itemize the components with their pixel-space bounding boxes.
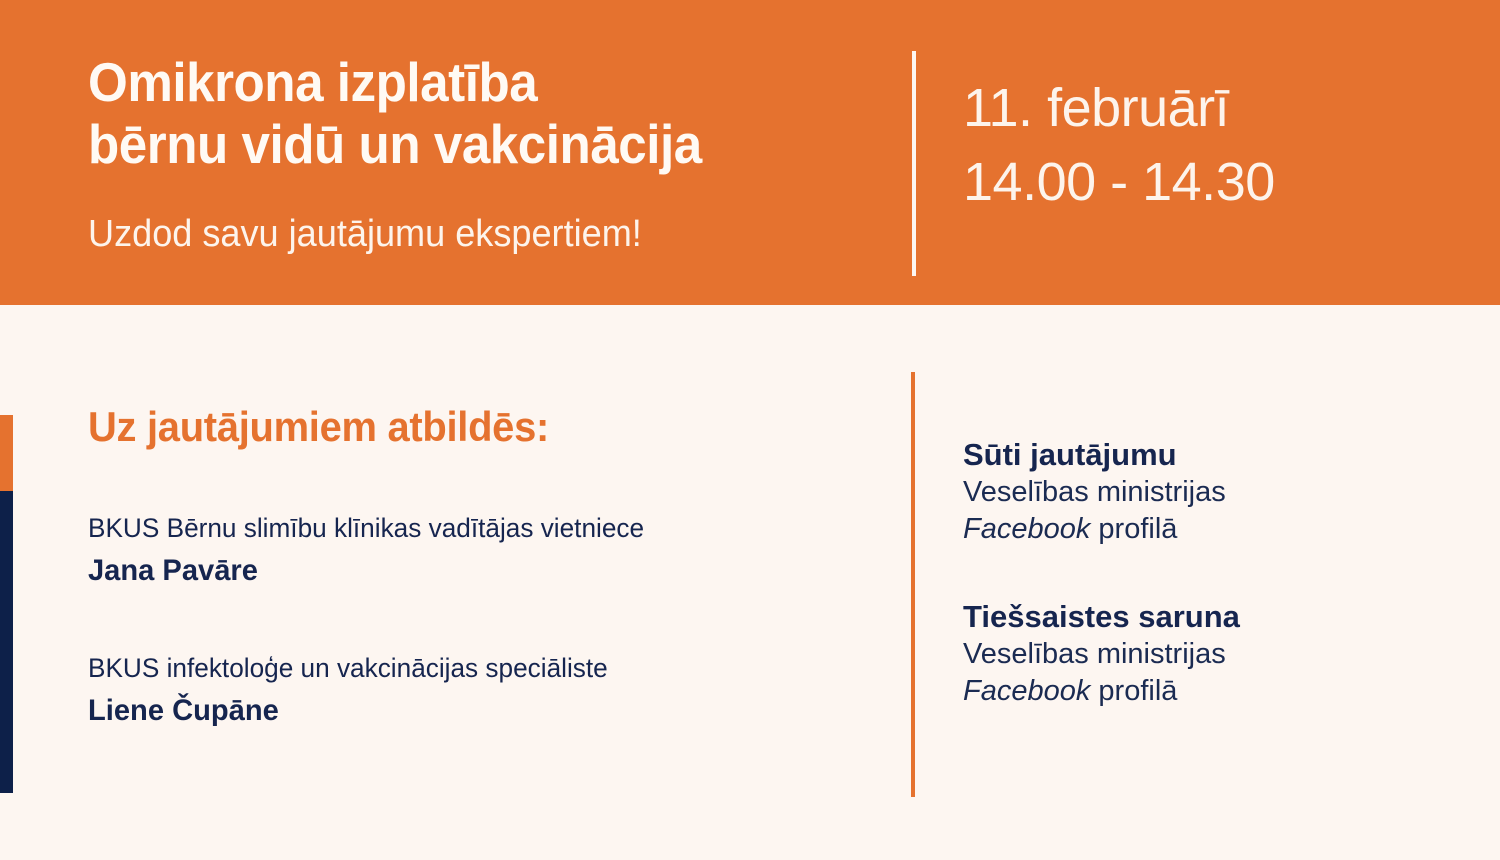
- event-date: 11. februārī: [963, 72, 1433, 146]
- poster-canvas: Omikrona izplatība bērnu vidū un vakcinā…: [0, 0, 1500, 860]
- event-title-line-1: Omikrona izplatība: [88, 52, 832, 114]
- info-block-line-1: Veselības ministrijas: [963, 474, 1443, 512]
- info-block-line-2-suffix: profilā: [1090, 513, 1177, 545]
- speaker-role: BKUS Bērnu slimību klīnikas vadītājas vi…: [88, 512, 854, 546]
- header-datetime-group: 11. februārī 14.00 - 14.30: [963, 72, 1433, 220]
- info-block-title: Sūti jautājumu: [963, 437, 1443, 474]
- info-block-line-2: Facebook profilā: [963, 511, 1443, 549]
- body-vertical-divider: [911, 372, 915, 797]
- info-block-line-2-suffix: profilā: [1090, 675, 1177, 707]
- info-block-title: Tiešsaistes saruna: [963, 599, 1443, 636]
- info-block-line-2: Facebook profilā: [963, 673, 1443, 711]
- facebook-brand-name: Facebook: [963, 675, 1090, 707]
- speaker-name: Liene Čupāne: [88, 691, 854, 730]
- speaker-entry: BKUS infektoloģe un vakcinācijas speciāl…: [88, 652, 878, 730]
- speakers-section-heading: Uz jautājumiem atbildēs:: [88, 404, 839, 450]
- edge-accent-bar-orange: [0, 415, 13, 491]
- info-block-line-1: Veselības ministrijas: [963, 636, 1443, 674]
- header-title-group: Omikrona izplatība bērnu vidū un vakcinā…: [88, 52, 888, 258]
- facebook-brand-name: Facebook: [963, 513, 1090, 545]
- header-vertical-divider: [912, 51, 916, 276]
- speaker-name: Jana Pavāre: [88, 551, 854, 590]
- header-banner: Omikrona izplatība bērnu vidū un vakcinā…: [0, 0, 1500, 305]
- event-title-line-2: bērnu vidū un vakcinācija: [88, 114, 832, 176]
- participation-panel: Sūti jautājumu Veselības ministrijas Fac…: [963, 437, 1443, 711]
- speaker-entry: BKUS Bērnu slimību klīnikas vadītājas vi…: [88, 512, 878, 590]
- edge-accent-bar-navy: [0, 491, 13, 793]
- info-block: Tiešsaistes saruna Veselības ministrijas…: [963, 599, 1443, 711]
- event-time: 14.00 - 14.30: [963, 146, 1433, 220]
- event-subtitle: Uzdod savu jautājumu ekspertiem!: [88, 212, 848, 258]
- speaker-role: BKUS infektoloģe un vakcinācijas speciāl…: [88, 652, 854, 686]
- info-block: Sūti jautājumu Veselības ministrijas Fac…: [963, 437, 1443, 549]
- speakers-panel: Uz jautājumiem atbildēs: BKUS Bērnu slim…: [88, 404, 878, 730]
